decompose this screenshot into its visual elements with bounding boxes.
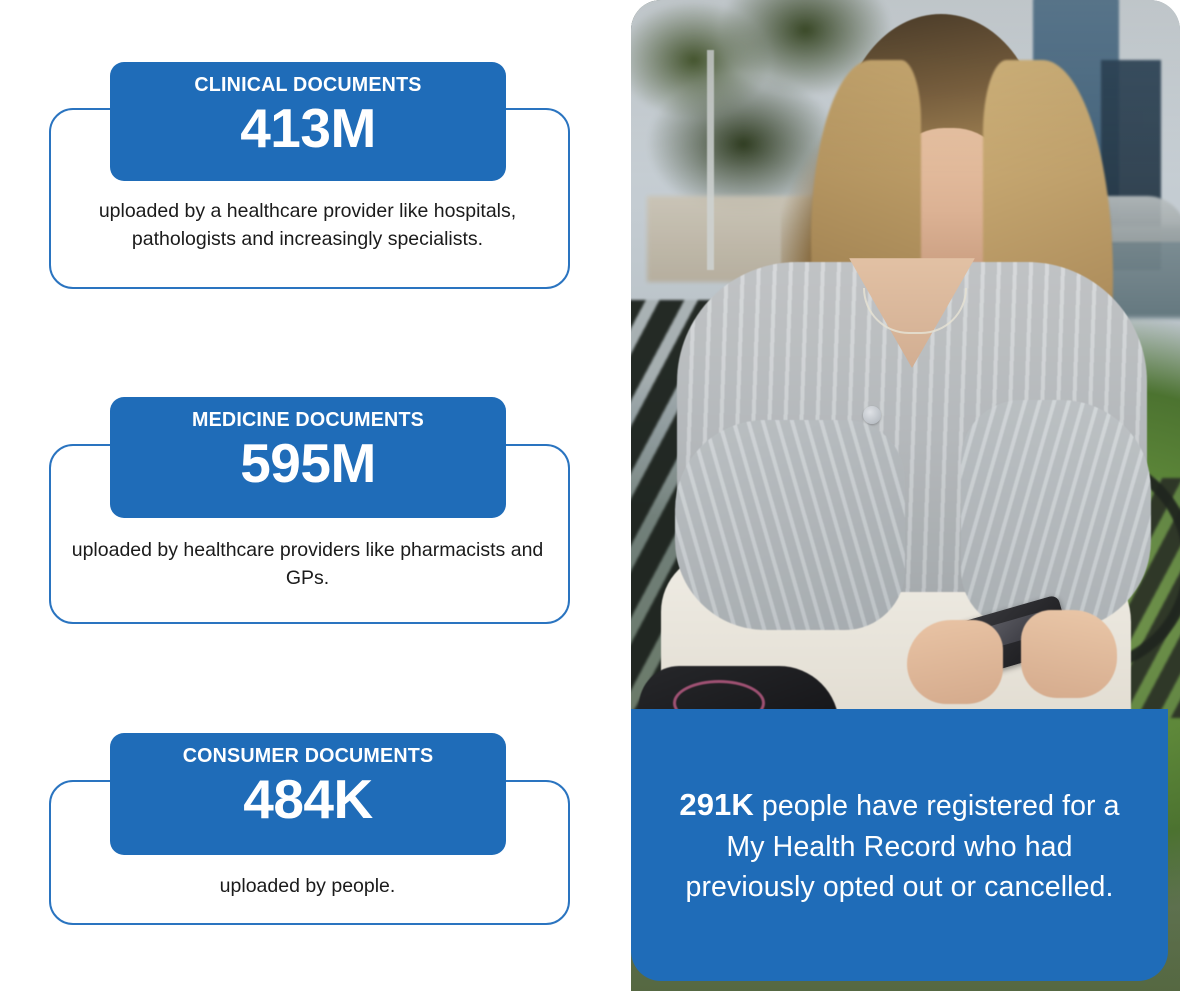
registration-highlight-number: 291K — [679, 787, 754, 822]
stat-label: MEDICINE DOCUMENTS — [128, 409, 489, 432]
stat-badge-clinical-documents: CLINICAL DOCUMENTS 413M — [110, 62, 506, 181]
right-hand — [1021, 610, 1117, 698]
stat-label: CONSUMER DOCUMENTS — [128, 745, 489, 768]
cardigan-button-1 — [863, 406, 881, 424]
infographic-root: CLINICAL DOCUMENTS 413M uploaded by a he… — [0, 0, 1180, 991]
light-pole — [707, 50, 714, 270]
registration-callout-panel: 291K people have registered for a My Hea… — [631, 709, 1168, 981]
stat-value: 413M — [120, 99, 496, 158]
left-hand — [907, 620, 1003, 704]
stat-caption: uploaded by people. — [55, 873, 560, 901]
stat-badge-medicine-documents: MEDICINE DOCUMENTS 595M — [110, 397, 506, 518]
stat-badge-consumer-documents: CONSUMER DOCUMENTS 484K — [110, 733, 506, 855]
left-sleeve — [675, 420, 905, 630]
registration-callout-text: 291K people have registered for a My Hea… — [665, 783, 1135, 908]
stat-caption: uploaded by a healthcare provider like h… — [55, 198, 560, 253]
right-sleeve — [961, 400, 1151, 630]
stat-value: 484K — [120, 770, 496, 829]
stat-value: 595M — [120, 434, 496, 493]
stat-label: CLINICAL DOCUMENTS — [128, 74, 489, 97]
stat-caption: uploaded by healthcare providers like ph… — [55, 537, 560, 592]
